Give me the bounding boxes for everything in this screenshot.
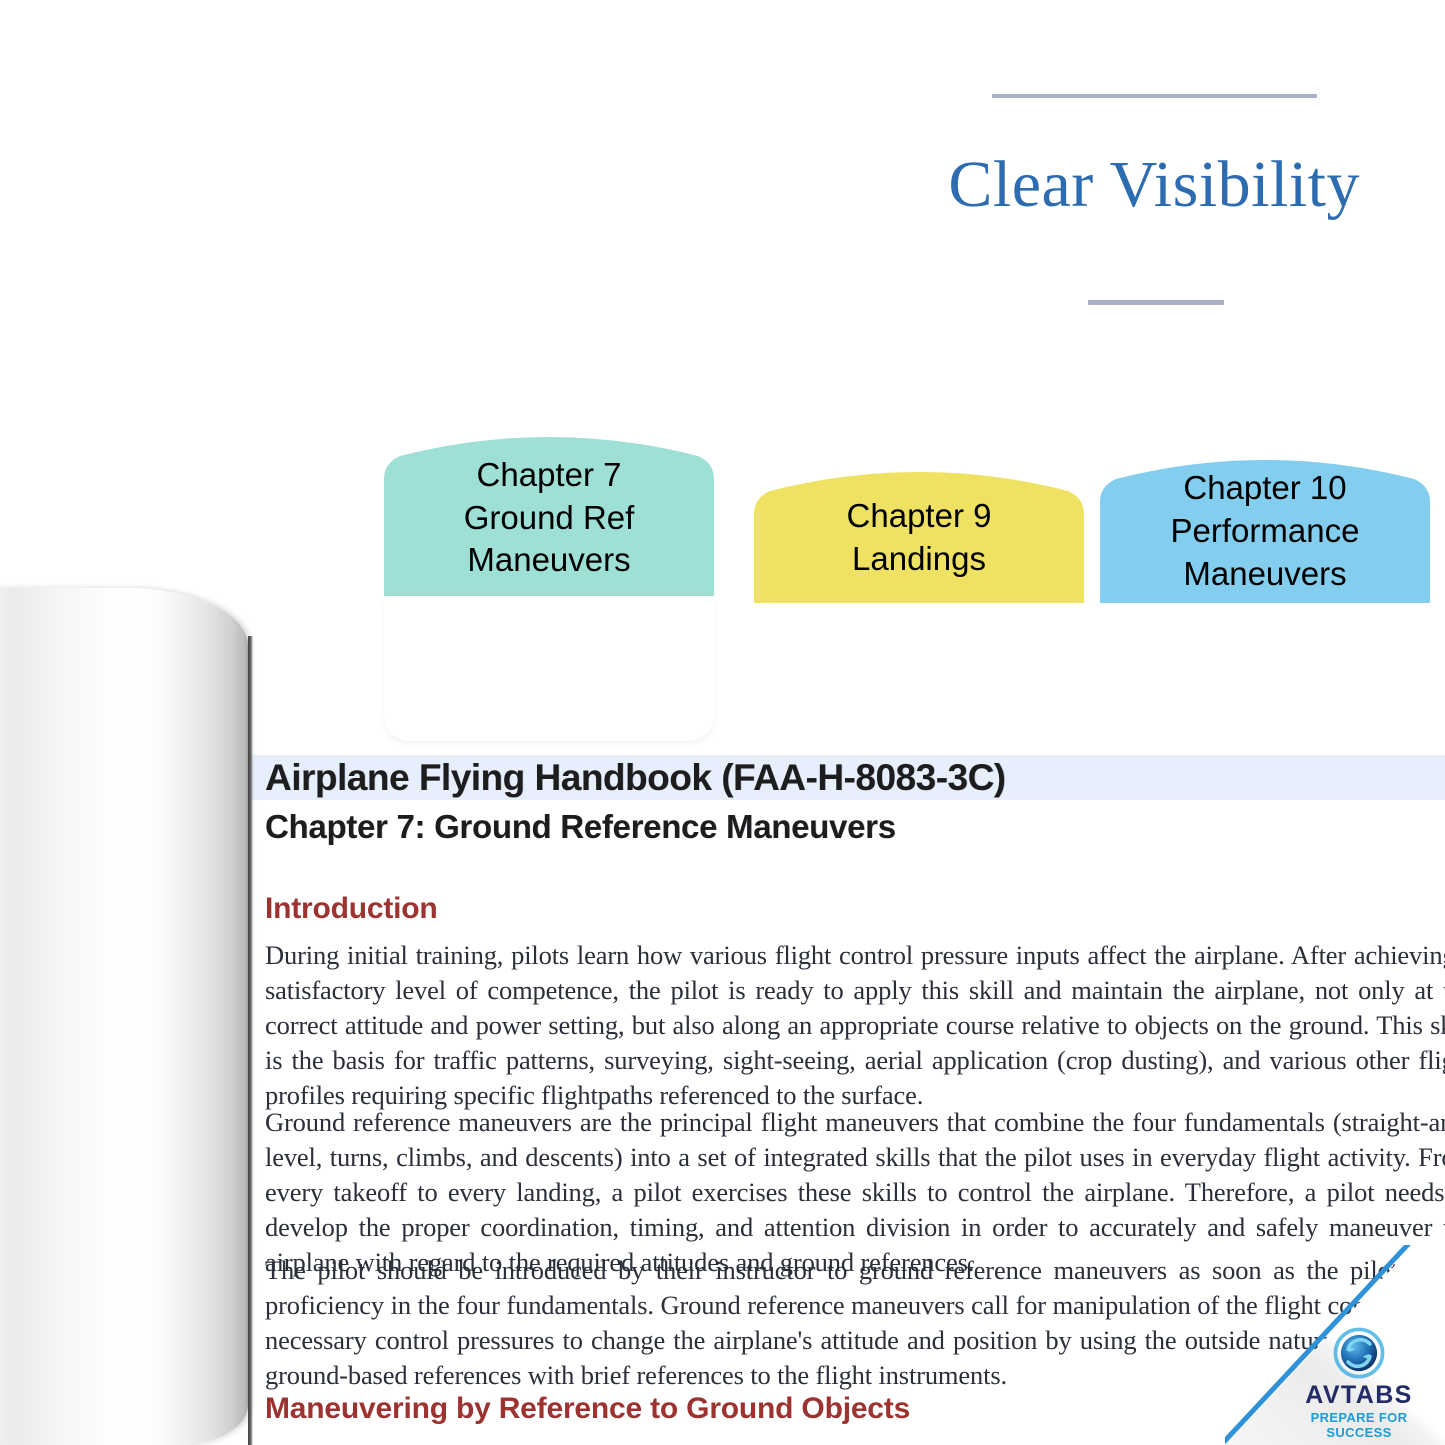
title-rule-bottom (1088, 300, 1224, 305)
page-curl-sheet (0, 588, 248, 1445)
page-curl (0, 588, 248, 1445)
avtabs-swirl-icon (1330, 1324, 1388, 1382)
handbook-title: Airplane Flying Handbook (FAA-H-8083-3C) (265, 757, 1006, 799)
page-title: Clear Visibility (720, 150, 1360, 219)
section-heading-maneuvering: Maneuvering by Reference to Ground Objec… (265, 1392, 910, 1426)
chapter-tab-9[interactable]: Chapter 9 Landings (754, 472, 1084, 603)
avtabs-logo: AVTABS PREPARE FOR SUCCESS (1279, 1324, 1439, 1441)
chapter-tab-10[interactable]: Chapter 10 Performance Maneuvers (1100, 460, 1430, 603)
slide-canvas: Clear Visibility Airplane Flying Handboo… (0, 0, 1445, 1445)
title-rule-top (992, 94, 1317, 98)
corner-fold: AVTABS PREPARE FOR SUCCESS (1225, 1245, 1445, 1445)
paragraph-1: During initial training, pilots learn ho… (265, 938, 1445, 1113)
chapter-tab-7[interactable]: Chapter 7 Ground Ref Maneuvers (384, 437, 714, 603)
page-curl-spine (248, 636, 253, 1445)
chapter-tab-7-label: Chapter 7 Ground Ref Maneuvers (394, 454, 704, 583)
avtabs-tagline: PREPARE FOR SUCCESS (1279, 1410, 1439, 1441)
section-heading-introduction: Introduction (265, 892, 438, 926)
handbook-subtitle: Chapter 7: Ground Reference Maneuvers (265, 808, 896, 846)
avtabs-wordmark: AVTABS (1279, 1383, 1439, 1408)
chapter-tab-10-label: Chapter 10 Performance Maneuvers (1110, 467, 1420, 596)
active-tab-card (384, 596, 714, 741)
chapter-tab-9-label: Chapter 9 Landings (764, 495, 1074, 581)
